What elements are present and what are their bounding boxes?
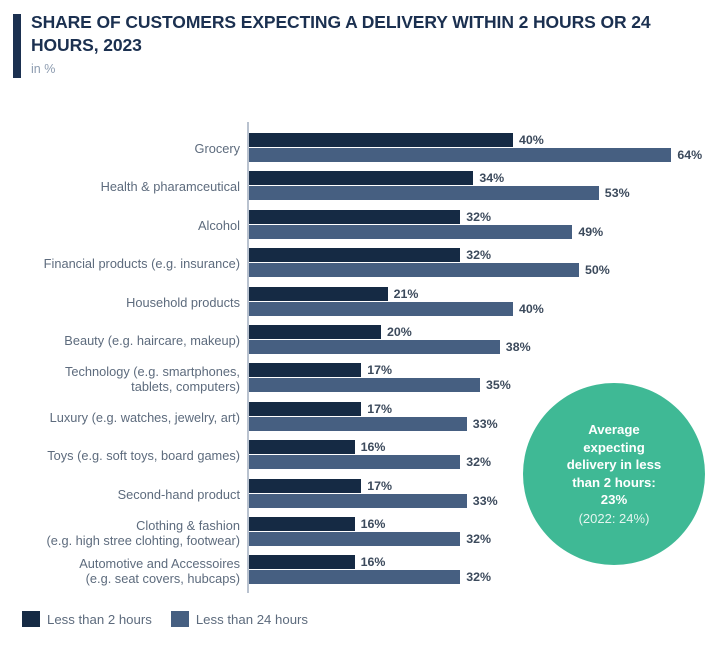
category-label: Luxury (e.g. watches, jewelry, art) [50,410,240,425]
bar-less-than-2-hours [249,287,388,301]
bar-less-than-24-hours [249,570,460,584]
legend-swatch-icon [171,611,189,627]
bar-value-label: 33% [473,494,498,508]
legend-swatch-icon [22,611,40,627]
bar-less-than-2-hours [249,248,460,262]
bar-less-than-2-hours [249,479,361,493]
category-label: Health & pharamceutical [101,179,240,194]
category-label: Beauty (e.g. haircare, makeup) [64,333,240,348]
category-label: Financial products (e.g. insurance) [44,256,240,271]
average-annotation-main-text: Average expecting delivery in less than … [567,421,662,509]
legend-label: Less than 2 hours [47,612,152,627]
bar-less-than-2-hours [249,402,361,416]
legend-item[interactable]: Less than 24 hours [171,611,308,627]
bar-less-than-24-hours [249,378,480,392]
bar-less-than-24-hours [249,417,467,431]
category-label: Automotive and Accessoires (e.g. seat co… [79,556,240,586]
bar-less-than-24-hours [249,186,599,200]
bar-value-label: 40% [519,302,544,316]
chart-plot-area: GroceryHealth & pharamceuticalAlcoholFin… [0,0,722,660]
bar-value-label: 32% [466,248,491,262]
category-label: Household products [126,295,240,310]
bar-value-label: 38% [506,340,531,354]
bar-value-label: 40% [519,133,544,147]
bar-less-than-2-hours [249,325,381,339]
category-label: Grocery [194,141,240,156]
category-label: Technology (e.g. smartphones, tablets, c… [65,364,240,394]
bar-value-label: 50% [585,263,610,277]
bar-value-label: 17% [367,363,392,377]
bar-value-label: 49% [578,225,603,239]
bar-value-label: 32% [466,455,491,469]
bar-less-than-24-hours [249,340,500,354]
category-label: Clothing & fashion (e.g. high stree cloh… [47,518,240,548]
bar-less-than-2-hours [249,517,355,531]
legend-item[interactable]: Less than 2 hours [22,611,152,627]
average-annotation-sub-text: (2022: 24%) [579,510,650,527]
bar-value-label: 16% [361,555,386,569]
bar-value-label: 35% [486,378,511,392]
bar-less-than-24-hours [249,494,467,508]
legend-label: Less than 24 hours [196,612,308,627]
bar-less-than-24-hours [249,148,671,162]
bar-value-label: 32% [466,210,491,224]
bar-less-than-2-hours [249,133,513,147]
bar-less-than-24-hours [249,532,460,546]
bar-value-label: 32% [466,570,491,584]
bar-less-than-2-hours [249,555,355,569]
bar-value-label: 16% [361,440,386,454]
category-label: Alcohol [198,218,240,233]
bar-less-than-2-hours [249,210,460,224]
bar-value-label: 64% [677,148,702,162]
chart-legend: Less than 2 hoursLess than 24 hours [22,611,308,627]
bar-value-label: 17% [367,479,392,493]
bar-value-label: 53% [605,186,630,200]
bar-less-than-24-hours [249,302,513,316]
bar-value-label: 32% [466,532,491,546]
bar-value-label: 34% [479,171,504,185]
bar-less-than-24-hours [249,263,579,277]
average-annotation-bubble: Average expecting delivery in less than … [523,383,705,565]
bar-less-than-2-hours [249,440,355,454]
bar-value-label: 17% [367,402,392,416]
bar-less-than-2-hours [249,363,361,377]
bar-less-than-24-hours [249,225,572,239]
bar-less-than-2-hours [249,171,473,185]
bar-value-label: 21% [394,287,419,301]
bar-value-label: 16% [361,517,386,531]
bar-less-than-24-hours [249,455,460,469]
bar-value-label: 20% [387,325,412,339]
category-label: Toys (e.g. soft toys, board games) [47,448,240,463]
category-label: Second-hand product [118,487,240,502]
bar-value-label: 33% [473,417,498,431]
